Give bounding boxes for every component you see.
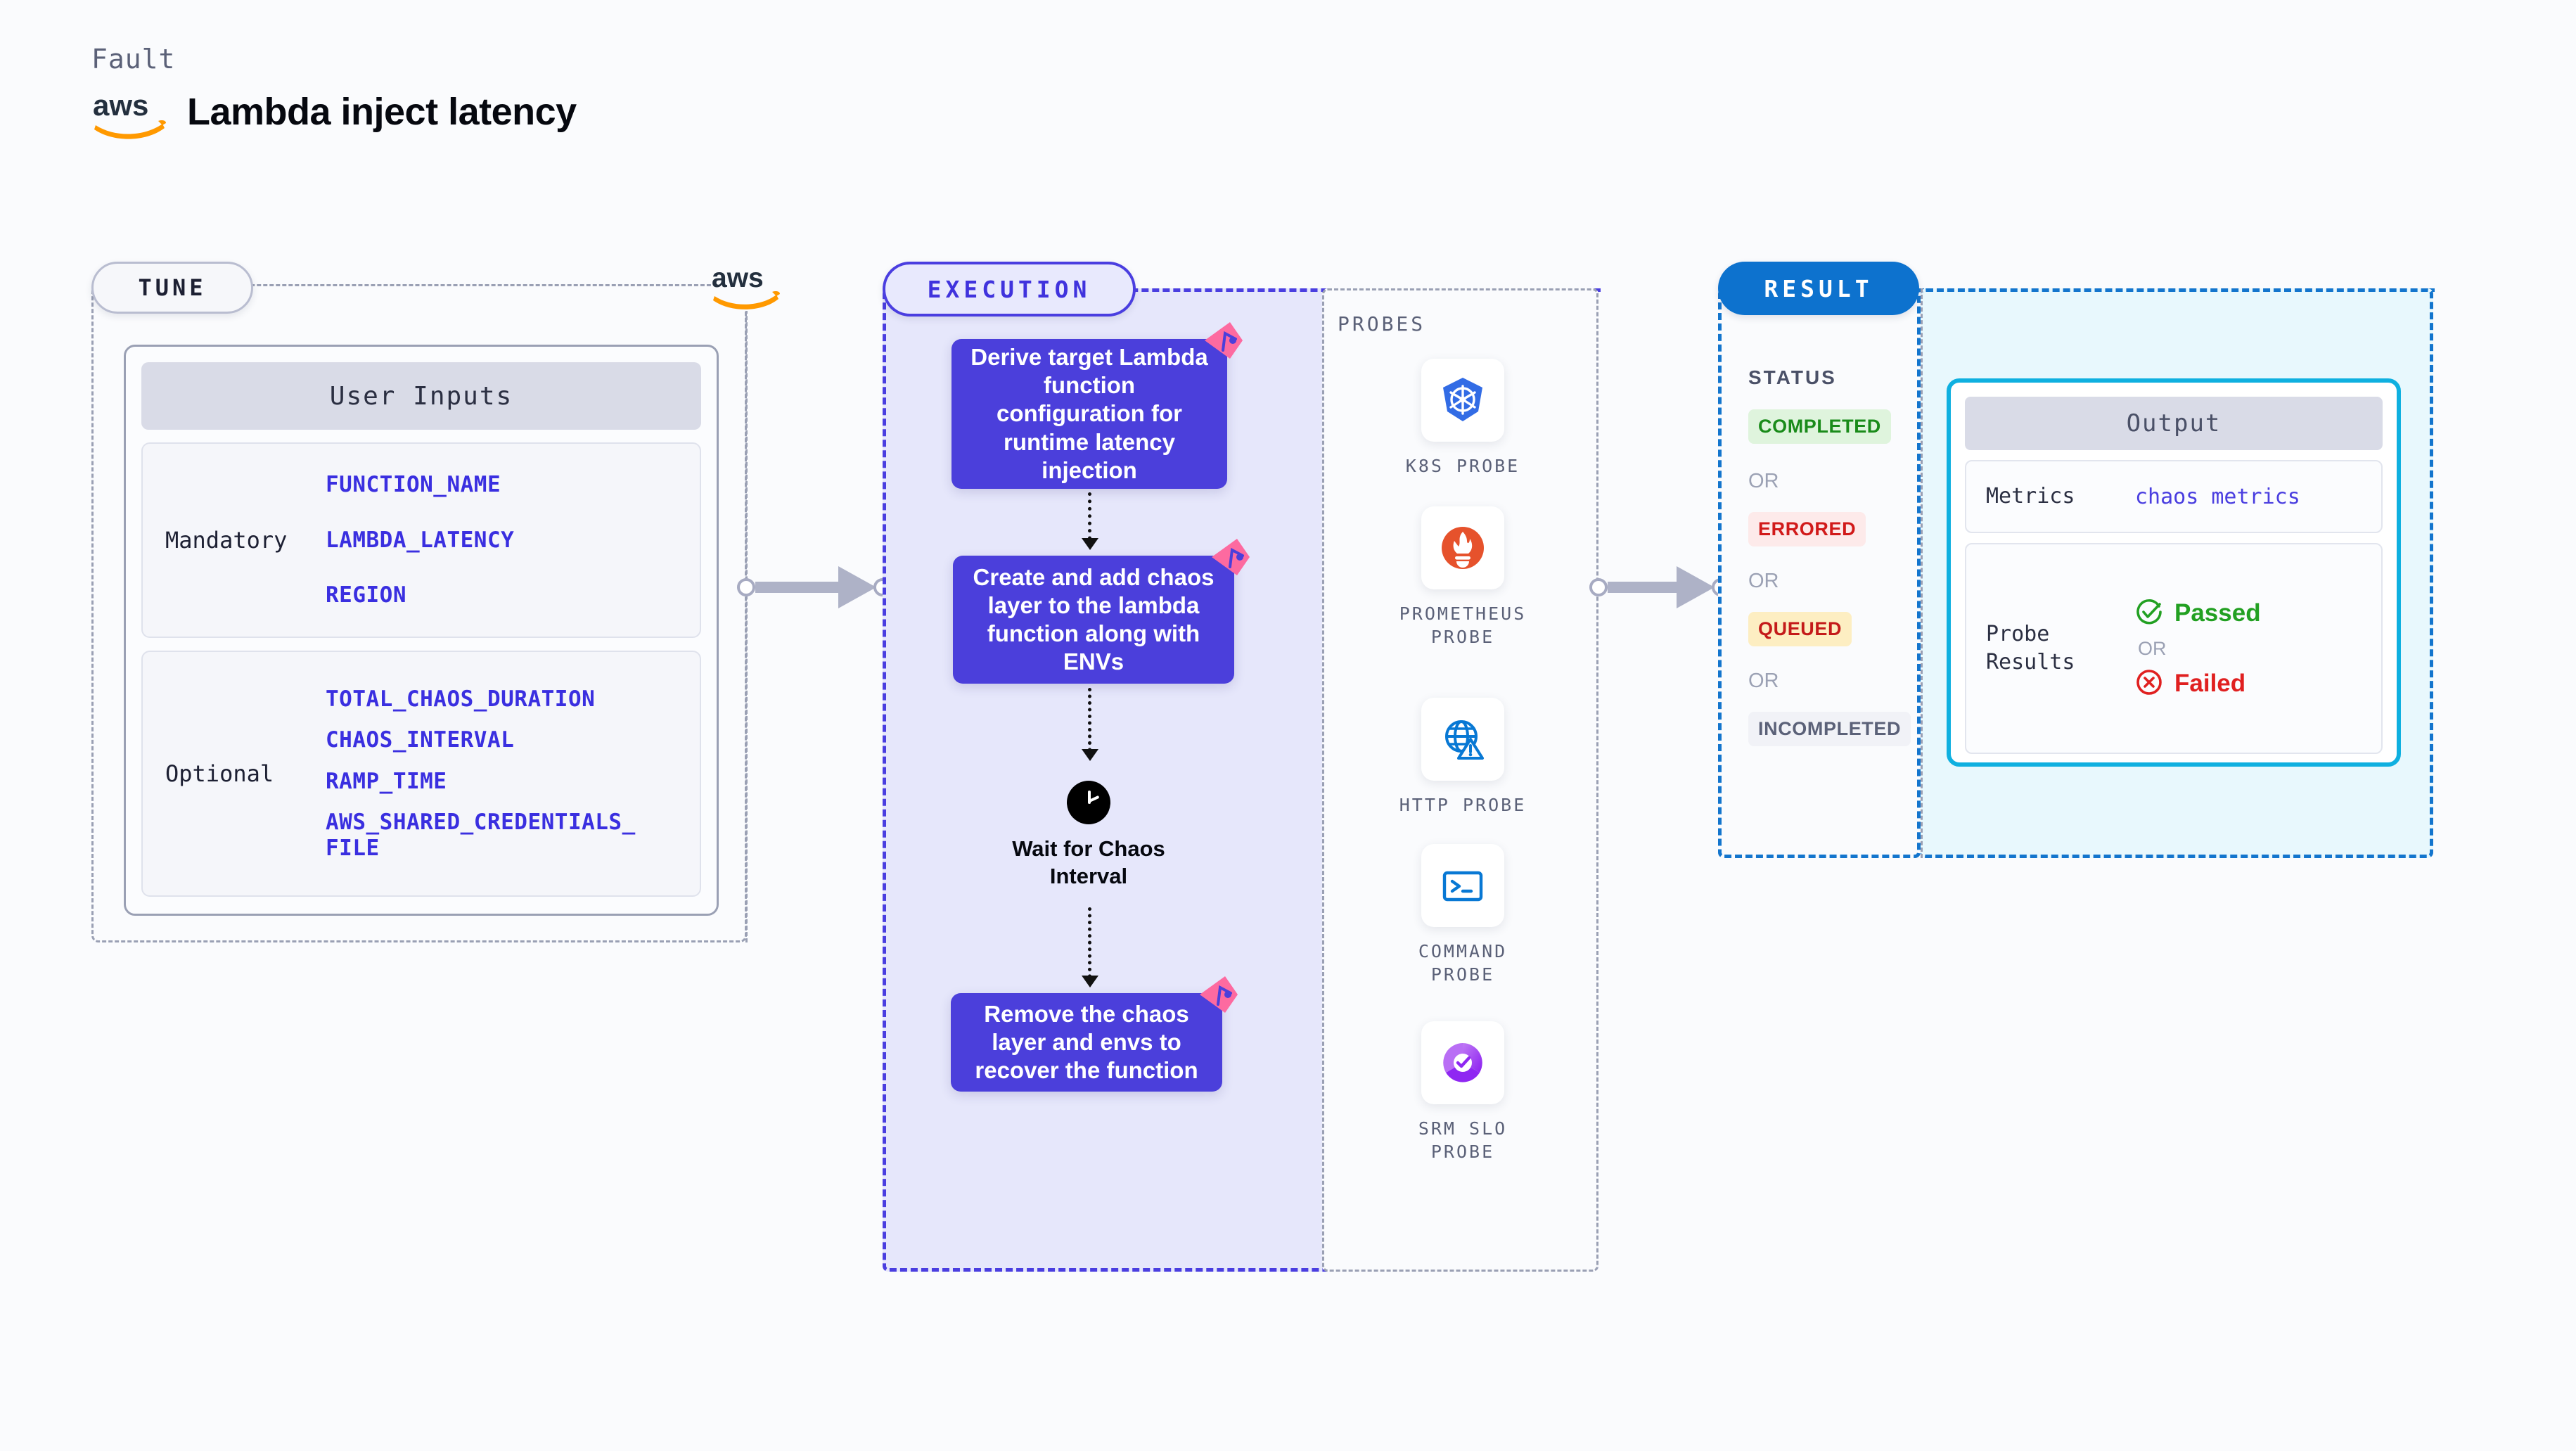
arrow-shaft — [1088, 688, 1091, 758]
status-badge-incompleted: INCOMPLETED — [1748, 712, 1911, 746]
execution-step-box: Remove the chaos layer and envs to recov… — [951, 993, 1222, 1092]
flow-arrow-1 — [1088, 492, 1091, 547]
tune-provider-logo-icon: aws — [712, 259, 782, 311]
input-var: RAMP_TIME — [326, 769, 636, 795]
probes-title: PROBES — [1338, 312, 1425, 335]
execution-step-text: Remove the chaos layer and envs to recov… — [969, 1000, 1204, 1085]
http-globe-warning-icon — [1421, 698, 1504, 781]
optional-inputs-group: Optional TOTAL_CHAOS_DURATION CHAOS_INTE… — [141, 651, 701, 897]
wait-node-label: Wait for Chaos Interval — [1012, 836, 1165, 890]
tune-tag: TUNE — [91, 262, 253, 314]
execution-step-box: Derive target Lambda function configurat… — [951, 339, 1227, 489]
litmus-chaos-badge-icon — [1197, 975, 1241, 1014]
probe-label: PROMETHEUS PROBE — [1399, 602, 1527, 648]
result-tag: RESULT — [1718, 262, 1919, 315]
fault-kicker: Fault — [91, 44, 577, 75]
input-var: TOTAL_CHAOS_DURATION — [326, 686, 636, 712]
status-badge-queued: QUEUED — [1748, 612, 1852, 646]
connector-arrowhead-icon — [1677, 566, 1715, 608]
result-panel-divider — [1921, 288, 1923, 858]
probe-result-failed: Failed — [2135, 668, 2261, 700]
svg-text:aws: aws — [712, 263, 764, 293]
probe-item-prometheus[interactable]: PROMETHEUS PROBE — [1371, 506, 1554, 648]
probe-item-command[interactable]: COMMAND PROBE — [1371, 844, 1554, 986]
output-row-probe-results: Probe Results Passed OR — [1965, 543, 2383, 754]
flow-arrow-3 — [1088, 907, 1091, 985]
status-or-2: OR — [1748, 570, 1779, 593]
page-header: Fault aws Lambda inject latency — [91, 44, 577, 139]
connector-tune-to-execution — [737, 571, 892, 603]
status-or-1: OR — [1748, 470, 1779, 493]
srm-slo-donut-check-icon — [1421, 1021, 1504, 1104]
probe-result-or: OR — [2135, 638, 2261, 660]
flow-arrow-2 — [1088, 688, 1091, 758]
status-badge-errored: ERRORED — [1748, 512, 1866, 546]
probe-label: SRM SLO PROBE — [1418, 1117, 1507, 1163]
status-or-3: OR — [1748, 670, 1779, 693]
metrics-value[interactable]: chaos metrics — [2135, 485, 2300, 509]
mandatory-label: Mandatory — [150, 527, 326, 554]
user-inputs-title: User Inputs — [141, 362, 701, 430]
tune-panel-right-edge — [745, 284, 748, 942]
execution-step-text: Create and add chaos layer to the lambda… — [971, 563, 1216, 677]
probe-label: COMMAND PROBE — [1418, 940, 1507, 986]
execution-step-box: Create and add chaos layer to the lambda… — [953, 556, 1234, 684]
connector-shaft — [755, 582, 840, 593]
arrow-head-icon — [1082, 976, 1098, 987]
mandatory-inputs-group: Mandatory FUNCTION_NAME LAMBDA_LATENCY R… — [141, 442, 701, 638]
check-circle-icon — [2135, 598, 2163, 629]
probe-label: HTTP PROBE — [1399, 793, 1527, 817]
connector-start-dot — [1589, 578, 1608, 596]
aws-logo-icon: aws — [91, 84, 169, 139]
diagram-canvas: Fault aws Lambda inject latency TUNE aws — [0, 0, 2576, 1451]
terminal-icon — [1421, 844, 1504, 927]
connector-start-dot — [737, 578, 755, 596]
connector-arrowhead-icon — [838, 566, 876, 608]
wait-for-chaos-interval-node: Wait for Chaos Interval — [999, 781, 1179, 890]
output-row-metrics: Metrics chaos metrics — [1965, 460, 2383, 533]
user-inputs-card: User Inputs Mandatory FUNCTION_NAME LAMB… — [124, 345, 719, 916]
probe-item-srm-slo[interactable]: SRM SLO PROBE — [1371, 1021, 1554, 1163]
passed-label: Passed — [2174, 599, 2261, 627]
status-badge-completed: COMPLETED — [1748, 409, 1891, 444]
connector-execution-to-result — [1589, 571, 1730, 603]
output-card: Output Metrics chaos metrics Probe Resul… — [1947, 378, 2401, 767]
status-title: STATUS — [1748, 366, 1837, 389]
metrics-key: Metrics — [1986, 482, 2135, 511]
probe-result-passed: Passed — [2135, 598, 2261, 629]
input-var: AWS_SHARED_CREDENTIALS_ FILE — [326, 810, 636, 861]
probe-results-key: Probe Results — [1986, 620, 2135, 677]
input-var: CHAOS_INTERVAL — [326, 727, 636, 753]
execution-tag: EXECUTION — [883, 262, 1136, 317]
probe-item-http[interactable]: HTTP PROBE — [1371, 698, 1554, 817]
input-var: FUNCTION_NAME — [326, 472, 514, 498]
failed-label: Failed — [2174, 670, 2245, 698]
execution-step-text: Derive target Lambda function configurat… — [970, 343, 1209, 485]
x-circle-icon — [2135, 668, 2163, 700]
page-title: Lambda inject latency — [187, 93, 577, 131]
input-var: REGION — [326, 582, 514, 608]
prometheus-icon — [1421, 506, 1504, 589]
arrow-shaft — [1088, 907, 1091, 985]
litmus-chaos-badge-icon — [1202, 321, 1245, 360]
connector-shaft — [1608, 582, 1678, 593]
input-var: LAMBDA_LATENCY — [326, 528, 514, 554]
litmus-chaos-badge-icon — [1209, 537, 1252, 577]
arrow-head-icon — [1082, 749, 1098, 761]
probe-label: K8S PROBE — [1406, 454, 1520, 478]
output-title: Output — [1965, 397, 2383, 450]
svg-text:aws: aws — [93, 89, 148, 122]
kubernetes-icon — [1421, 359, 1504, 442]
optional-label: Optional — [150, 760, 326, 787]
probe-item-k8s[interactable]: K8S PROBE — [1371, 359, 1554, 478]
arrow-head-icon — [1082, 538, 1098, 550]
clock-icon — [1067, 781, 1110, 824]
